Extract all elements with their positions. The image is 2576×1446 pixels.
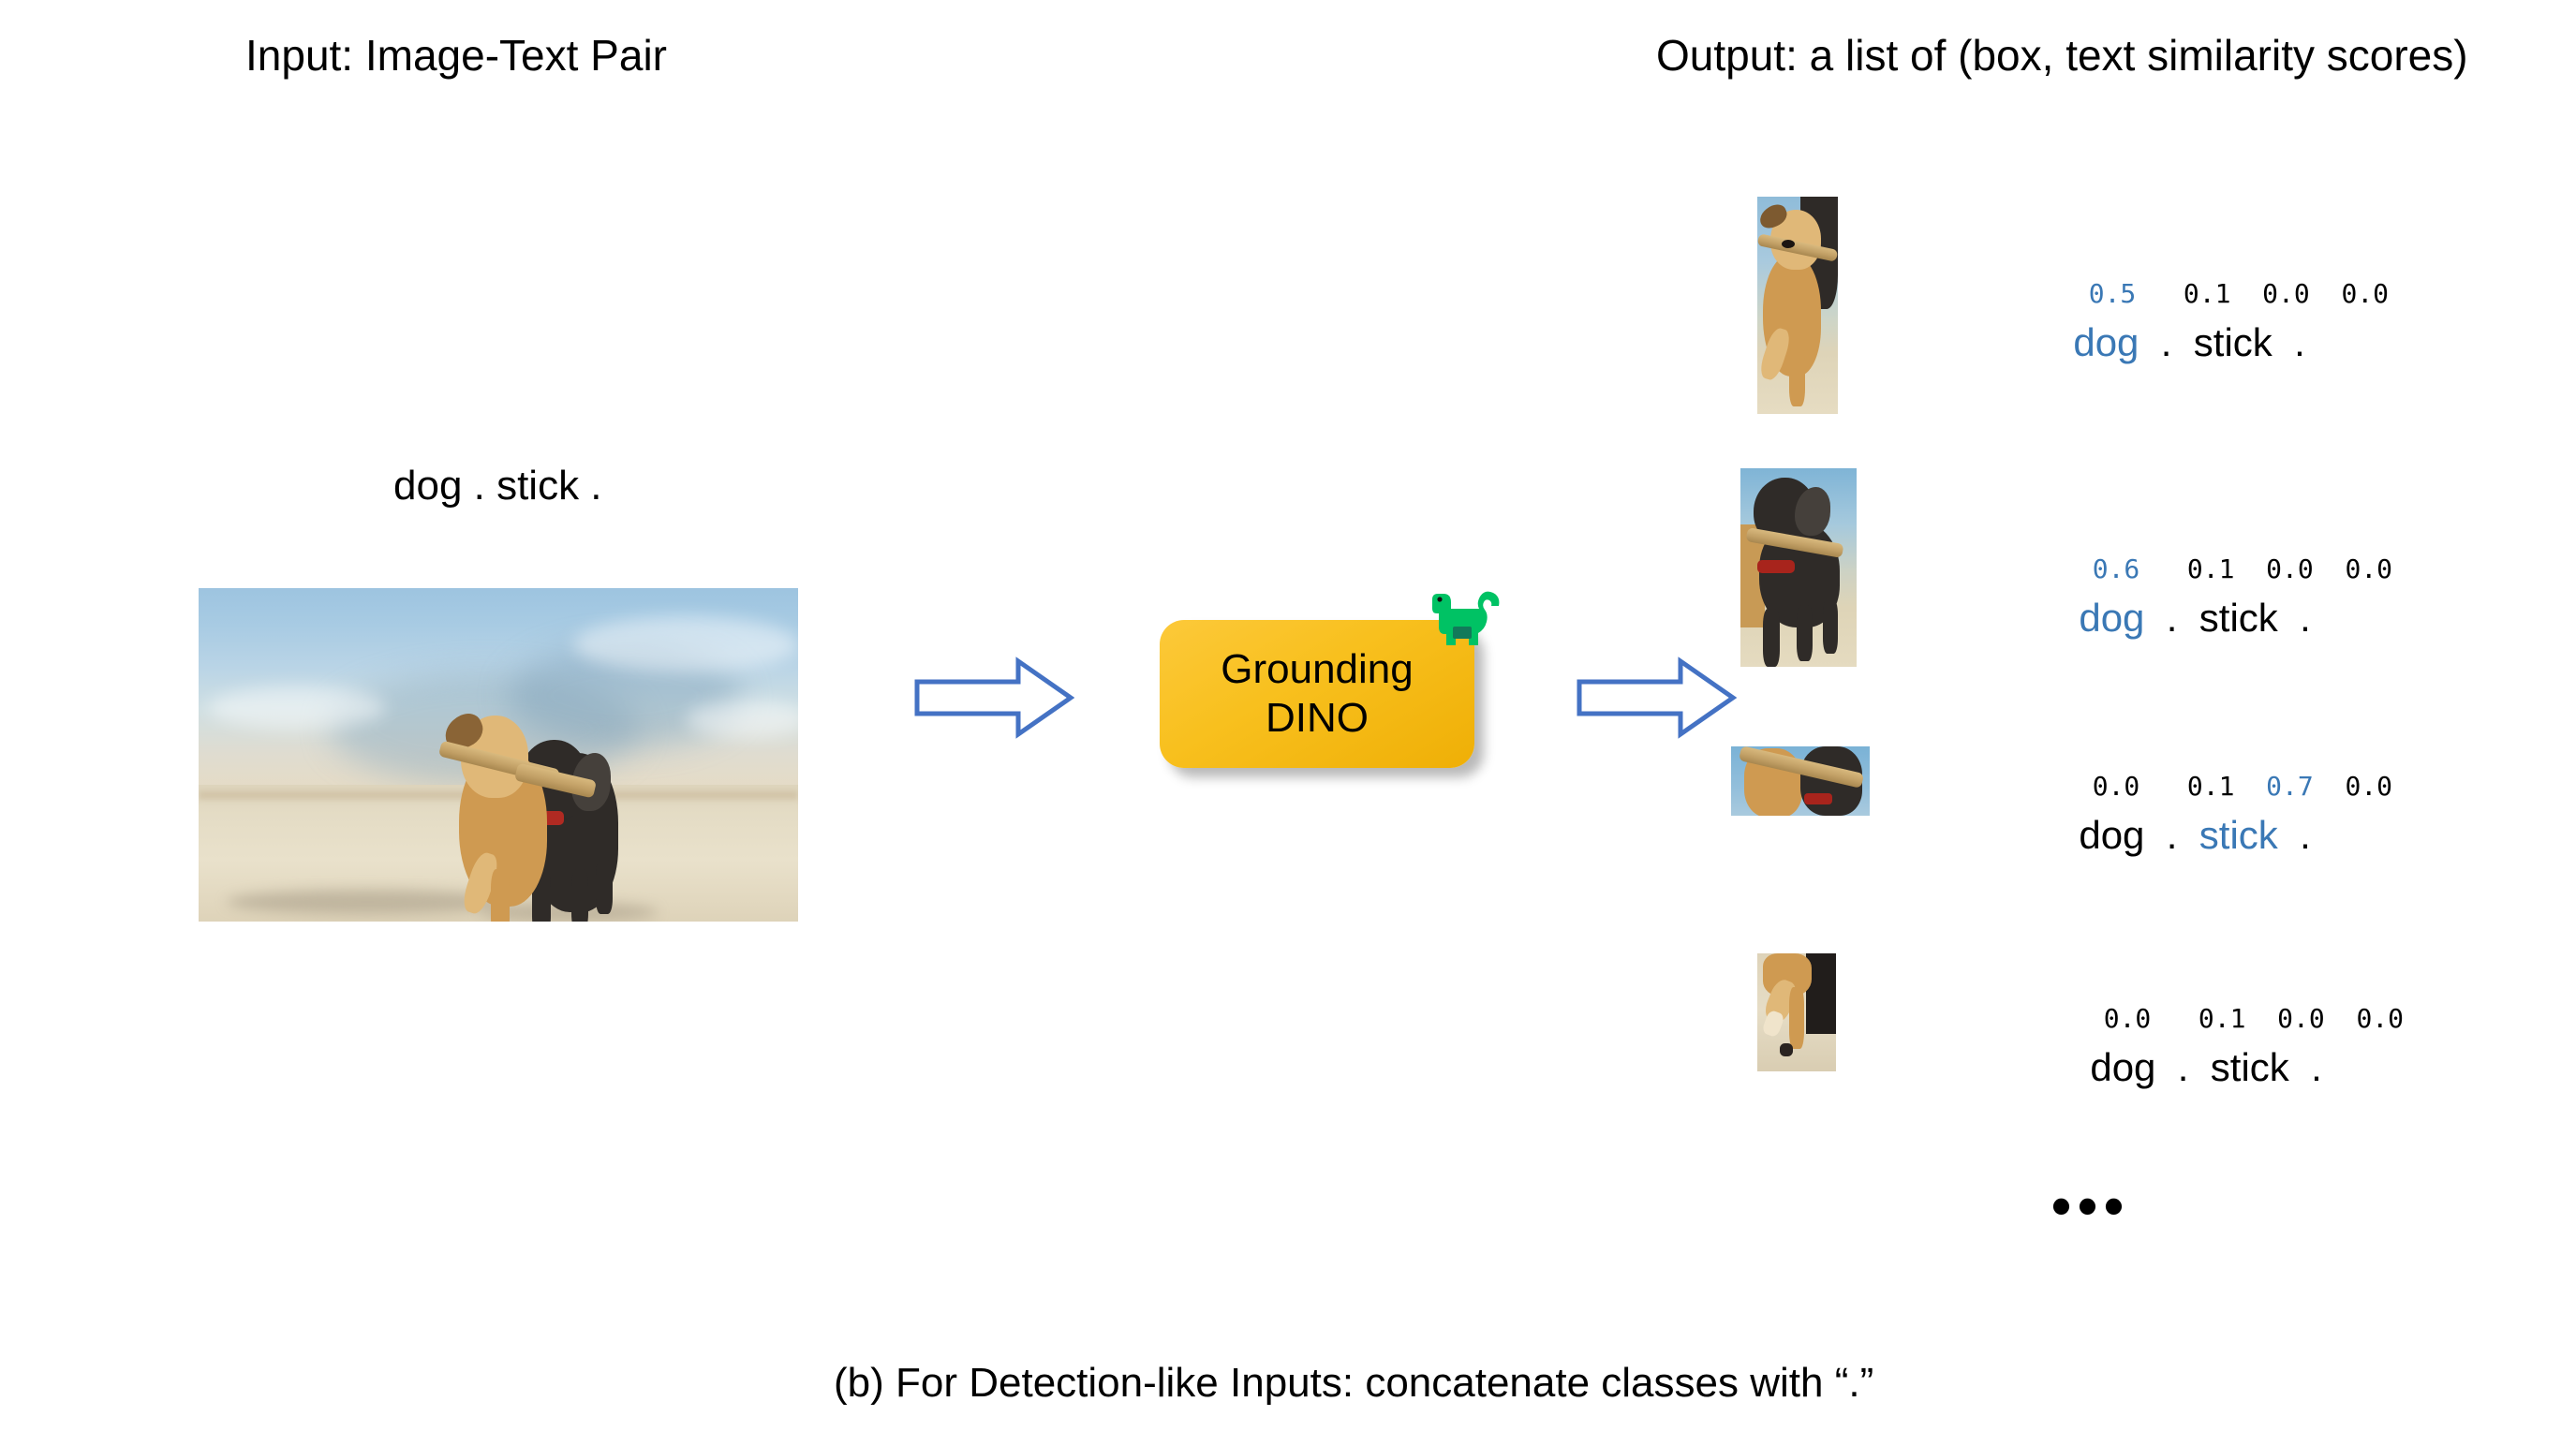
black-dog-leg: [571, 869, 588, 922]
token-dot: .: [2167, 813, 2178, 857]
token-row-3: dog . stick .: [2057, 768, 2311, 858]
token-dot: .: [2167, 596, 2178, 640]
dinosaur-icon: [1429, 583, 1500, 652]
token-row-2: dog . stick .: [2057, 551, 2311, 641]
token-stick: stick: [2211, 1045, 2289, 1089]
token-dot: .: [2300, 813, 2311, 857]
crop-thumbnail-dog-legs: [1757, 953, 1836, 1071]
token-stick: stick: [2194, 320, 2273, 364]
photo-cloud: [573, 616, 798, 672]
score-value: 0.0: [2345, 771, 2392, 802]
token-row-1: dog . stick .: [2051, 275, 2305, 365]
arrow-right-icon-2: [1576, 656, 1737, 740]
grounding-dino-label-line1: Grounding: [1221, 645, 1413, 694]
output-header-label: Output: a list of (box, text similarity …: [1656, 30, 2468, 81]
golden-dog-leg: [491, 869, 510, 922]
grounding-dino-label-line2: DINO: [1266, 694, 1369, 743]
token-dot: .: [2178, 1045, 2189, 1089]
token-dot: .: [2161, 320, 2172, 364]
score-value: 0.0: [2341, 278, 2389, 309]
photo-cloud: [686, 701, 798, 738]
token-dot: .: [2311, 1045, 2322, 1089]
token-row-4: dog . stick .: [2068, 1000, 2322, 1090]
score-value: 0.0: [2345, 553, 2392, 584]
score-value: 0.0: [2356, 1003, 2404, 1034]
token-dog: dog: [2090, 1045, 2155, 1089]
token-dog: dog: [2073, 320, 2139, 364]
input-header-label: Input: Image-Text Pair: [245, 30, 667, 81]
token-stick: stick: [2199, 596, 2278, 640]
token-stick: stick: [2199, 813, 2278, 857]
ellipsis-more-results: •••: [2051, 1178, 2130, 1234]
grounding-dino-box[interactable]: Grounding DINO: [1160, 620, 1474, 768]
photo-cloud: [208, 686, 386, 730]
token-dog: dog: [2079, 813, 2144, 857]
crop-thumbnail-stick: [1731, 746, 1870, 816]
black-dog-leg: [596, 860, 613, 914]
input-prompt-text: dog . stick .: [393, 463, 602, 509]
crop-thumbnail-black-dog: [1740, 468, 1857, 667]
token-dot: .: [2294, 320, 2305, 364]
crop-thumbnail-golden-dog: [1757, 197, 1838, 414]
input-photo: [199, 588, 798, 922]
token-dot: .: [2300, 596, 2311, 640]
arrow-right-icon-1: [913, 656, 1074, 740]
token-dog: dog: [2079, 596, 2144, 640]
figure-caption: (b) For Detection-like Inputs: concatena…: [834, 1360, 1873, 1407]
